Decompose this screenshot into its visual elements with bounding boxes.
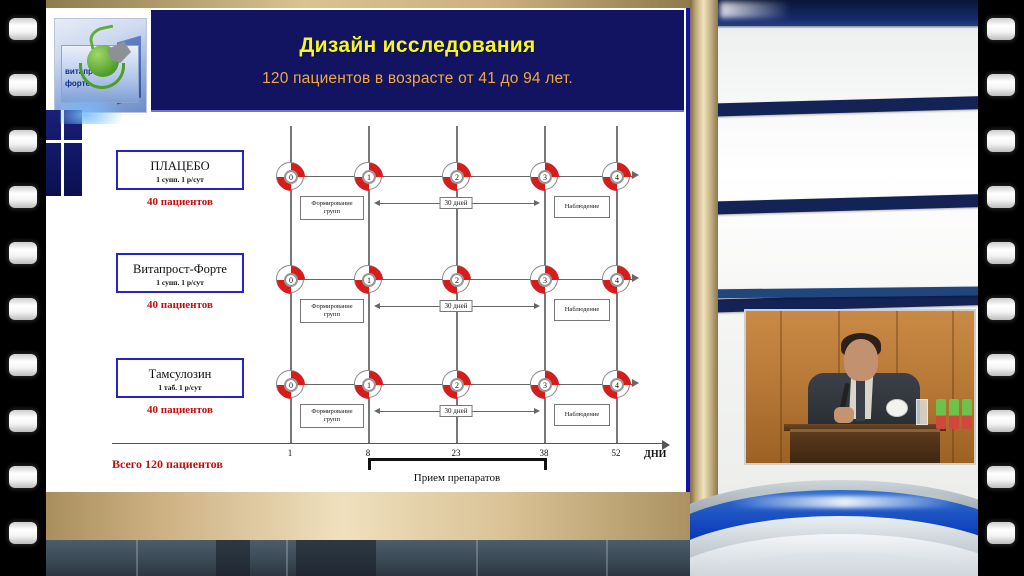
- arm-timeline-arrow-icon: [632, 274, 639, 282]
- desk-highlight: [730, 496, 960, 508]
- visit-marker-3: 3: [530, 370, 558, 398]
- arm-label-box: Тамсулозин 1 таб. 1 р/сут: [116, 358, 244, 398]
- bottle: [936, 399, 946, 429]
- film-sprocket-hole: [9, 186, 37, 208]
- page-subtitle: 120 пациентов в возрасте от 41 до 94 лет…: [151, 70, 684, 88]
- stage-floor: [46, 540, 690, 576]
- visit-number: 2: [451, 171, 463, 183]
- film-sprocket-hole: [9, 410, 37, 432]
- film-sprocket-hole: [9, 130, 37, 152]
- slide-header: Дизайн исследования 120 пациентов в возр…: [151, 10, 684, 112]
- phase-box-observation: Наблюдение: [554, 196, 610, 218]
- phase-box-observation: Наблюдение: [554, 404, 610, 426]
- bracket-top: [368, 458, 546, 461]
- film-sprocket-hole: [9, 466, 37, 488]
- film-sprocket-hole: [987, 410, 1015, 432]
- arm-label-box: Витапрост-Форте 1 супп. 1 р/сут: [116, 253, 244, 293]
- visit-marker-2: 2: [442, 370, 470, 398]
- visit-marker-1: 1: [354, 265, 382, 293]
- phase-box-observation: Наблюдение: [554, 299, 610, 321]
- film-sprocket-hole: [987, 186, 1015, 208]
- visit-marker-0: 0: [276, 370, 304, 398]
- phase-box-formation: Формирование групп: [300, 404, 364, 428]
- film-sprocket-hole: [987, 242, 1015, 264]
- speaker-head: [844, 339, 878, 381]
- arm-dose: 1 таб. 1 р/сут: [118, 383, 242, 392]
- duration-arrow-right-icon: [534, 200, 540, 206]
- film-sprocket-hole: [9, 522, 37, 544]
- film-sprocket-hole: [987, 466, 1015, 488]
- visit-marker-0: 0: [276, 265, 304, 293]
- visit-marker-2: 2: [442, 265, 470, 293]
- studio-stripe: [690, 194, 980, 216]
- visit-number: 2: [451, 379, 463, 391]
- arm-patient-count: 40 пациентов: [116, 196, 244, 208]
- visit-number: 2: [451, 274, 463, 286]
- visit-marker-1: 1: [354, 370, 382, 398]
- speaker-video-inset: [744, 309, 976, 465]
- floor-seam: [136, 540, 138, 576]
- arm-name: Витапрост-Форте: [118, 262, 242, 277]
- video-frame: Дизайн исследования 120 пациентов в возр…: [0, 0, 1024, 576]
- speaker-hand: [834, 407, 854, 423]
- visit-number: 0: [285, 379, 297, 391]
- podium: [790, 429, 940, 463]
- duration-label: 30 дней: [440, 197, 473, 209]
- bottle: [962, 399, 972, 429]
- arm-label-box: ПЛАЦЕБО 1 супп. 1 р/сут: [116, 150, 244, 190]
- arm-patient-count: 40 пациентов: [116, 404, 244, 416]
- visit-number: 1: [363, 274, 375, 286]
- visit-marker-0: 0: [276, 162, 304, 190]
- wood-panel-line: [952, 311, 954, 465]
- visit-number: 4: [611, 171, 623, 183]
- arm-timeline-arrow-icon: [632, 171, 639, 179]
- visit-number: 3: [539, 171, 551, 183]
- visit-number: 4: [611, 379, 623, 391]
- arm-dose: 1 супп. 1 р/сут: [118, 175, 242, 184]
- stage-wall: [46, 492, 690, 542]
- film-sprocket-hole: [9, 242, 37, 264]
- presentation-slide: Дизайн исследования 120 пациентов в возр…: [46, 8, 690, 492]
- floor-seam: [476, 540, 478, 576]
- duration-label: 30 дней: [440, 300, 473, 312]
- film-sprocket-hole: [9, 298, 37, 320]
- visit-number: 3: [539, 274, 551, 286]
- decorative-glow: [60, 94, 124, 124]
- arm-name: ПЛАЦЕБО: [118, 159, 242, 174]
- floor-seam: [606, 540, 608, 576]
- speaker-tie: [856, 377, 865, 421]
- page-title: Дизайн исследования: [151, 34, 684, 58]
- studio-stripe: [690, 96, 980, 118]
- duration-arrow-left-icon: [374, 200, 380, 206]
- film-strip-left: [0, 0, 46, 576]
- phase-box-formation: Формирование групп: [300, 196, 364, 220]
- floor-shadow: [296, 540, 376, 576]
- cross-divider-horizontal: [44, 140, 82, 143]
- film-sprocket-hole: [987, 522, 1015, 544]
- bracket-label: Прием препаратов: [414, 472, 500, 484]
- film-sprocket-hole: [987, 130, 1015, 152]
- stage-top-trim: [46, 0, 690, 8]
- film-sprocket-hole: [987, 18, 1015, 40]
- arm-dose: 1 супп. 1 р/сут: [118, 278, 242, 287]
- film-sprocket-hole: [9, 18, 37, 40]
- film-strip-right: [978, 0, 1024, 576]
- slide-canvas: Дизайн исследования 120 пациентов в возр…: [46, 8, 686, 492]
- bracket-right-tick: [544, 458, 547, 470]
- visit-marker-2: 2: [442, 162, 470, 190]
- arm-patient-count: 40 пациентов: [116, 299, 244, 311]
- visit-marker-3: 3: [530, 265, 558, 293]
- film-sprocket-hole: [987, 74, 1015, 96]
- visit-number: 1: [363, 379, 375, 391]
- duration-arrow-right-icon: [534, 303, 540, 309]
- water-glass: [916, 399, 928, 425]
- phase-box-formation: Формирование групп: [300, 299, 364, 323]
- visit-number: 0: [285, 171, 297, 183]
- wood-panel-line: [780, 311, 782, 465]
- arm-name: Тамсулозин: [118, 367, 242, 382]
- arm-timeline-arrow-icon: [632, 379, 639, 387]
- film-sprocket-hole: [987, 298, 1015, 320]
- film-sprocket-hole: [987, 354, 1015, 376]
- visit-marker-4: 4: [602, 265, 630, 293]
- duration-label: 30 дней: [440, 405, 473, 417]
- duration-arrow-left-icon: [374, 303, 380, 309]
- floor-seam: [286, 540, 288, 576]
- visit-marker-3: 3: [530, 162, 558, 190]
- duration-arrow-left-icon: [374, 408, 380, 414]
- visit-number: 1: [363, 171, 375, 183]
- visit-marker-4: 4: [602, 162, 630, 190]
- bottle: [949, 399, 959, 429]
- x-axis: [112, 443, 664, 445]
- studio-highlight: [720, 2, 790, 18]
- duration-arrow-right-icon: [534, 408, 540, 414]
- film-sprocket-hole: [9, 354, 37, 376]
- visit-number: 4: [611, 274, 623, 286]
- floor-shadow: [216, 540, 250, 576]
- treatment-bracket: Прием препаратов: [104, 446, 682, 486]
- podium-logo: [886, 399, 908, 417]
- visit-number: 3: [539, 379, 551, 391]
- visit-marker-4: 4: [602, 370, 630, 398]
- visit-number: 0: [285, 274, 297, 286]
- study-design-diagram: ПЛАЦЕБО 1 супп. 1 р/сут 40 пациентов 0: [104, 126, 682, 486]
- news-desk: [690, 476, 980, 576]
- film-sprocket-hole: [9, 74, 37, 96]
- visit-marker-1: 1: [354, 162, 382, 190]
- bracket-left-tick: [368, 458, 371, 470]
